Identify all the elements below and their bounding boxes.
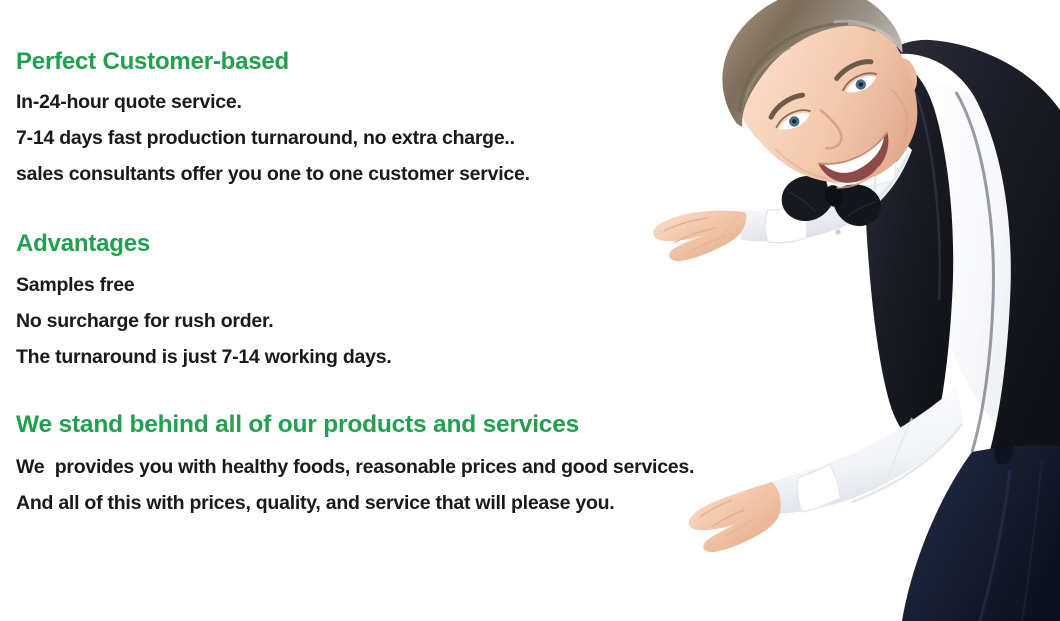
body-line: 7-14 days fast production turnaround, no… (16, 120, 530, 156)
section-heading: Perfect Customer-based (16, 48, 530, 76)
body-line: sales consultants offer you one to one c… (16, 156, 530, 192)
body-line: No surcharge for rush order. (16, 303, 391, 339)
section-heading: We stand behind all of our products and … (16, 411, 694, 439)
body-line: We provides you with healthy foods, reas… (16, 449, 694, 485)
section-body: In-24-hour quote service. 7-14 days fast… (16, 84, 530, 192)
section-perfect-customer-based: Perfect Customer-based In-24-hour quote … (16, 48, 530, 192)
promo-banner: Perfect Customer-based In-24-hour quote … (0, 0, 1060, 621)
section-we-stand-behind: We stand behind all of our products and … (16, 411, 694, 521)
section-body: We provides you with healthy foods, reas… (16, 449, 694, 521)
section-heading: Advantages (16, 230, 391, 258)
body-line: Samples free (16, 267, 391, 303)
marketing-copy: Perfect Customer-based In-24-hour quote … (16, 0, 746, 621)
body-line: And all of this with prices, quality, an… (16, 485, 694, 521)
section-body: Samples free No surcharge for rush order… (16, 267, 391, 375)
body-line: In-24-hour quote service. (16, 84, 530, 120)
section-advantages: Advantages Samples free No surcharge for… (16, 230, 391, 375)
body-line: The turnaround is just 7-14 working days… (16, 339, 391, 375)
